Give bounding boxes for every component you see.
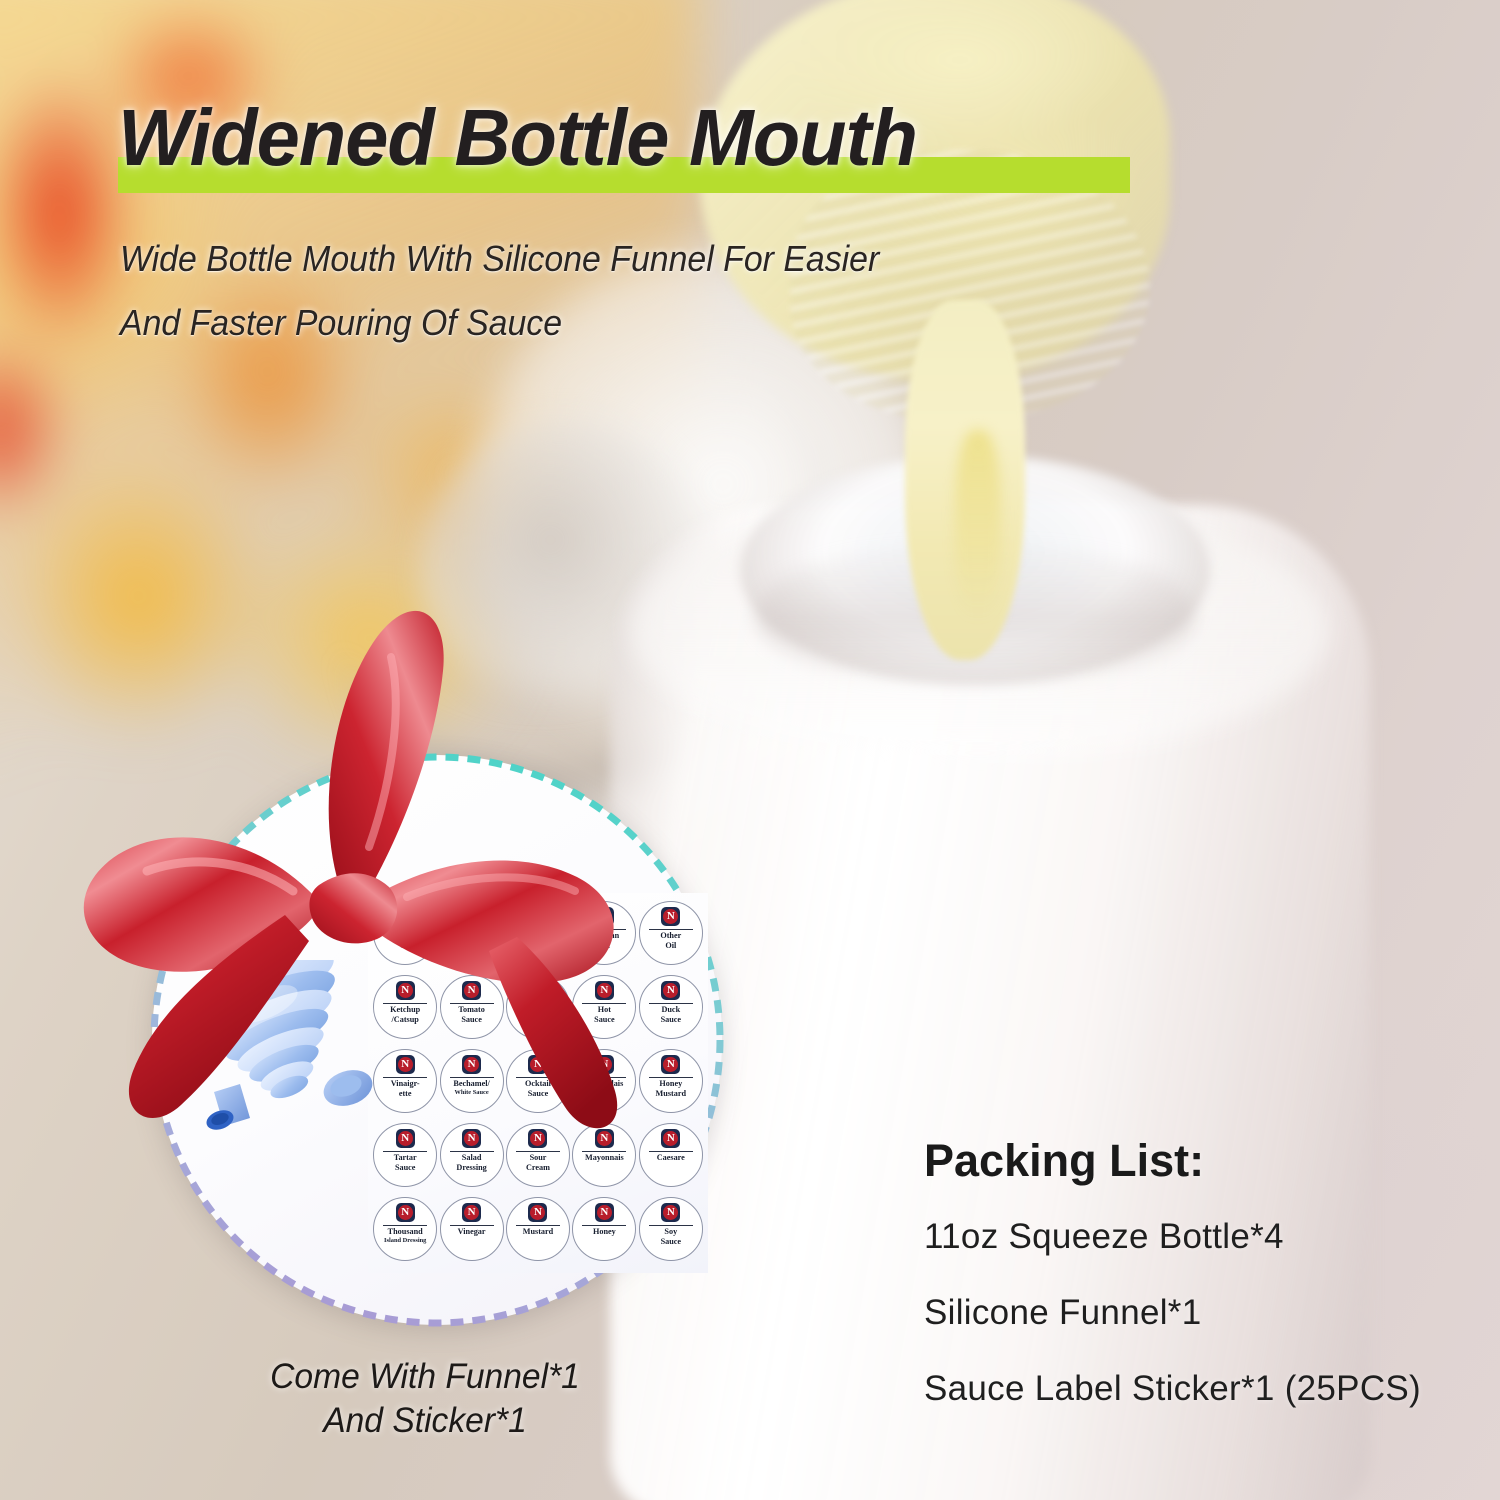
sauce-label-sticker: NOtherOil <box>639 901 703 965</box>
caption-line-2: And Sticker*1 <box>55 1399 794 1443</box>
sticker-divider <box>450 1225 494 1226</box>
brand-n-icon: N <box>661 1055 680 1074</box>
sauce-label-sticker: NSoySauce <box>639 1197 703 1261</box>
sticker-divider <box>383 1003 427 1004</box>
sticker-label-line: Sauce <box>642 1237 700 1247</box>
sticker-label-line: Ocktail <box>509 1079 567 1089</box>
sticker-divider <box>450 929 494 930</box>
sticker-label-line: Honey <box>642 1079 700 1089</box>
packing-list: Packing List: 11oz Squeeze Bottle*4 Sili… <box>924 1135 1484 1445</box>
sticker-divider <box>450 1077 494 1078</box>
sticker-label-line: Island Dressing <box>376 1237 434 1245</box>
sticker-grid: NCanolaOilNOliveOilNCornOilNSoybeanOilNO… <box>373 901 703 1269</box>
sticker-label-line: Sauce <box>376 1163 434 1173</box>
brand-n-letter: N <box>464 983 479 998</box>
brand-n-icon: N <box>396 1203 415 1222</box>
subtitle-line-1: Wide Bottle Mouth With Silicone Funnel F… <box>120 237 1116 281</box>
brand-n-icon: N <box>661 981 680 1000</box>
sticker-label-line: Oil <box>376 941 434 951</box>
sauce-label-sticker: NSaladDressing <box>440 1123 504 1187</box>
brand-n-letter: N <box>597 983 612 998</box>
sauce-label-sticker: NCornOil <box>506 901 570 965</box>
brand-n-icon: N <box>462 981 481 1000</box>
sticker-divider <box>383 1077 427 1078</box>
sauce-label-sticker: NHoney <box>572 1197 636 1261</box>
sticker-label-line: Soy <box>642 1227 700 1237</box>
brand-n-letter: N <box>530 1131 545 1146</box>
brand-n-icon: N <box>396 1129 415 1148</box>
brand-n-letter: N <box>398 983 413 998</box>
sticker-label-line: Sour <box>509 1153 567 1163</box>
sticker-label-line: Sauce <box>509 1089 567 1099</box>
sticker-divider <box>516 1151 560 1152</box>
sticker-divider <box>649 929 693 930</box>
sticker-label-line: Oil <box>509 941 567 951</box>
sticker-divider <box>649 1225 693 1226</box>
subtitle-line-2: And Faster Pouring Of Sauce <box>120 301 1116 345</box>
sticker-divider <box>383 929 427 930</box>
sticker-label-line: Vinegar <box>443 1227 501 1237</box>
sticker-label-line: Sauce <box>642 1015 700 1025</box>
brand-n-letter: N <box>663 983 678 998</box>
sticker-label-line: Tomato <box>443 1005 501 1015</box>
sauce-label-sticker: NBarbecueSauce <box>506 975 570 1039</box>
sticker-divider <box>582 929 626 930</box>
sauce-label-sticker: NCaesare <box>639 1123 703 1187</box>
brand-n-letter: N <box>530 1057 545 1072</box>
silicone-funnel <box>180 960 380 1135</box>
packing-list-item: Sauce Label Sticker*1 (25PCS) <box>924 1369 1484 1409</box>
brand-n-letter: N <box>663 909 678 924</box>
brand-n-letter: N <box>464 909 479 924</box>
sticker-label-line: Sauce <box>509 1015 567 1025</box>
sticker-label-line: Barbecue <box>509 1005 567 1015</box>
brand-n-icon: N <box>595 1055 614 1074</box>
brand-n-icon: N <box>528 1055 547 1074</box>
brand-n-icon: N <box>528 981 547 1000</box>
sauce-label-sticker: NKetchup/Catsup <box>373 975 437 1039</box>
sticker-label-line: Tartar <box>376 1153 434 1163</box>
sauce-label-sticker: NCanolaOil <box>373 901 437 965</box>
brand-n-letter: N <box>398 909 413 924</box>
caption-line-1: Come With Funnel*1 <box>55 1355 794 1399</box>
brand-n-icon: N <box>462 1055 481 1074</box>
sticker-label-line: Dressing <box>443 1163 501 1173</box>
sticker-label-line: Duck <box>642 1005 700 1015</box>
sticker-label-line: Oil <box>443 941 501 951</box>
sauce-label-sticker: NVinaigr-ette <box>373 1049 437 1113</box>
sticker-divider <box>516 1077 560 1078</box>
sauce-highlight <box>955 430 1001 620</box>
brand-n-icon: N <box>661 1129 680 1148</box>
brand-n-icon: N <box>661 907 680 926</box>
sauce-label-sticker: NOcktailSauce <box>506 1049 570 1113</box>
sticker-label-line: Canola <box>376 931 434 941</box>
sticker-label-line: Hollandais <box>575 1079 633 1089</box>
sauce-label-sticker: NHoneyMustard <box>639 1049 703 1113</box>
brand-n-icon: N <box>595 1203 614 1222</box>
brand-n-letter: N <box>530 983 545 998</box>
brand-n-icon: N <box>528 907 547 926</box>
brand-n-letter: N <box>597 1131 612 1146</box>
brand-n-letter: N <box>398 1205 413 1220</box>
brand-n-icon: N <box>595 1129 614 1148</box>
sticker-label-line: ette <box>376 1089 434 1099</box>
sticker-divider <box>383 1151 427 1152</box>
sticker-label-line: Mustard <box>509 1227 567 1237</box>
brand-n-letter: N <box>398 1131 413 1146</box>
sauce-label-sticker: NMayonnais <box>572 1123 636 1187</box>
packing-list-item: Silicone Funnel*1 <box>924 1293 1484 1333</box>
brand-n-icon: N <box>396 1055 415 1074</box>
brand-n-letter: N <box>663 1131 678 1146</box>
sticker-label-line: Olive <box>443 931 501 941</box>
sauce-label-sticker: NTomatoSauce <box>440 975 504 1039</box>
sticker-divider <box>582 1225 626 1226</box>
brand-n-letter: N <box>464 1131 479 1146</box>
sticker-label-line: Hot <box>575 1005 633 1015</box>
sauce-label-sticker: NSoybeanOil <box>572 901 636 965</box>
sticker-divider <box>649 1151 693 1152</box>
sticker-sheet: NCanolaOilNOliveOilNCornOilNSoybeanOilNO… <box>368 893 708 1273</box>
packing-list-title: Packing List: <box>924 1135 1484 1187</box>
brand-n-letter: N <box>398 1057 413 1072</box>
brand-n-letter: N <box>530 1205 545 1220</box>
sticker-label-line: Sauce <box>443 1015 501 1025</box>
sticker-divider <box>649 1003 693 1004</box>
sticker-label-line: Thousand <box>376 1227 434 1237</box>
brand-n-icon: N <box>396 907 415 926</box>
inset-caption: Come With Funnel*1 And Sticker*1 <box>55 1355 794 1443</box>
sauce-label-sticker: NHotSauce <box>572 975 636 1039</box>
sauce-label-sticker: NDuckSauce <box>639 975 703 1039</box>
sticker-divider <box>582 1003 626 1004</box>
brand-n-letter: N <box>464 1057 479 1072</box>
page-title: Widened Bottle Mouth <box>118 95 1185 181</box>
sticker-divider <box>450 1151 494 1152</box>
product-infographic: Widened Bottle Mouth Wide Bottle Mouth W… <box>0 0 1500 1500</box>
brand-n-letter: N <box>663 1205 678 1220</box>
brand-n-icon: N <box>462 907 481 926</box>
brand-n-icon: N <box>595 907 614 926</box>
sticker-label-line: Mayonnais <box>575 1153 633 1163</box>
brand-n-letter: N <box>530 909 545 924</box>
brand-n-letter: N <box>597 1057 612 1072</box>
brand-n-icon: N <box>595 981 614 1000</box>
brand-n-letter: N <box>464 1205 479 1220</box>
sticker-divider <box>582 1077 626 1078</box>
sticker-label-line: Soybean <box>575 931 633 941</box>
sticker-label-line: /Catsup <box>376 1015 434 1025</box>
sticker-label-line: Cream <box>509 1163 567 1173</box>
sticker-divider <box>582 1151 626 1152</box>
packing-list-item: 11oz Squeeze Bottle*4 <box>924 1217 1484 1257</box>
brand-n-icon: N <box>462 1203 481 1222</box>
brand-n-icon: N <box>462 1129 481 1148</box>
sticker-label-line: Salad <box>443 1153 501 1163</box>
sauce-label-sticker: NOliveOil <box>440 901 504 965</box>
sticker-divider <box>649 1077 693 1078</box>
sticker-divider <box>516 1003 560 1004</box>
sticker-label-line: White Sauce <box>443 1089 501 1097</box>
sticker-divider <box>516 1225 560 1226</box>
sticker-label-line: Sauce <box>575 1015 633 1025</box>
sticker-label-line: Oil <box>642 941 700 951</box>
brand-n-icon: N <box>528 1129 547 1148</box>
brand-n-letter: N <box>597 909 612 924</box>
sauce-label-sticker: NVinegar <box>440 1197 504 1261</box>
sticker-divider <box>516 929 560 930</box>
sauce-label-sticker: NMustard <box>506 1197 570 1261</box>
sauce-label-sticker: NBechamel/White Sauce <box>440 1049 504 1113</box>
sticker-label-line: Mustard <box>642 1089 700 1099</box>
sauce-label-sticker: NSourCream <box>506 1123 570 1187</box>
sauce-label-sticker: NTartarSauce <box>373 1123 437 1187</box>
accessories-inset: NCanolaOilNOliveOilNCornOilNSoybeanOilNO… <box>152 755 722 1325</box>
brand-n-letter: N <box>663 1057 678 1072</box>
sticker-label-line: Other <box>642 931 700 941</box>
sticker-label-line: Ketchup <box>376 1005 434 1015</box>
sticker-divider <box>383 1225 427 1226</box>
sticker-label-line: Corn <box>509 931 567 941</box>
sticker-label-line: Caesare <box>642 1153 700 1163</box>
sticker-label-line: Vinaigr- <box>376 1079 434 1089</box>
brand-n-icon: N <box>528 1203 547 1222</box>
sticker-label-line: Oil <box>575 941 633 951</box>
sticker-divider <box>450 1003 494 1004</box>
sticker-label-line: Bechamel/ <box>443 1079 501 1089</box>
sauce-label-sticker: NThousandIsland Dressing <box>373 1197 437 1261</box>
brand-n-icon: N <box>661 1203 680 1222</box>
brand-n-icon: N <box>396 981 415 1000</box>
sauce-label-sticker: NHollandais <box>572 1049 636 1113</box>
sticker-label-line: Honey <box>575 1227 633 1237</box>
brand-n-letter: N <box>597 1205 612 1220</box>
